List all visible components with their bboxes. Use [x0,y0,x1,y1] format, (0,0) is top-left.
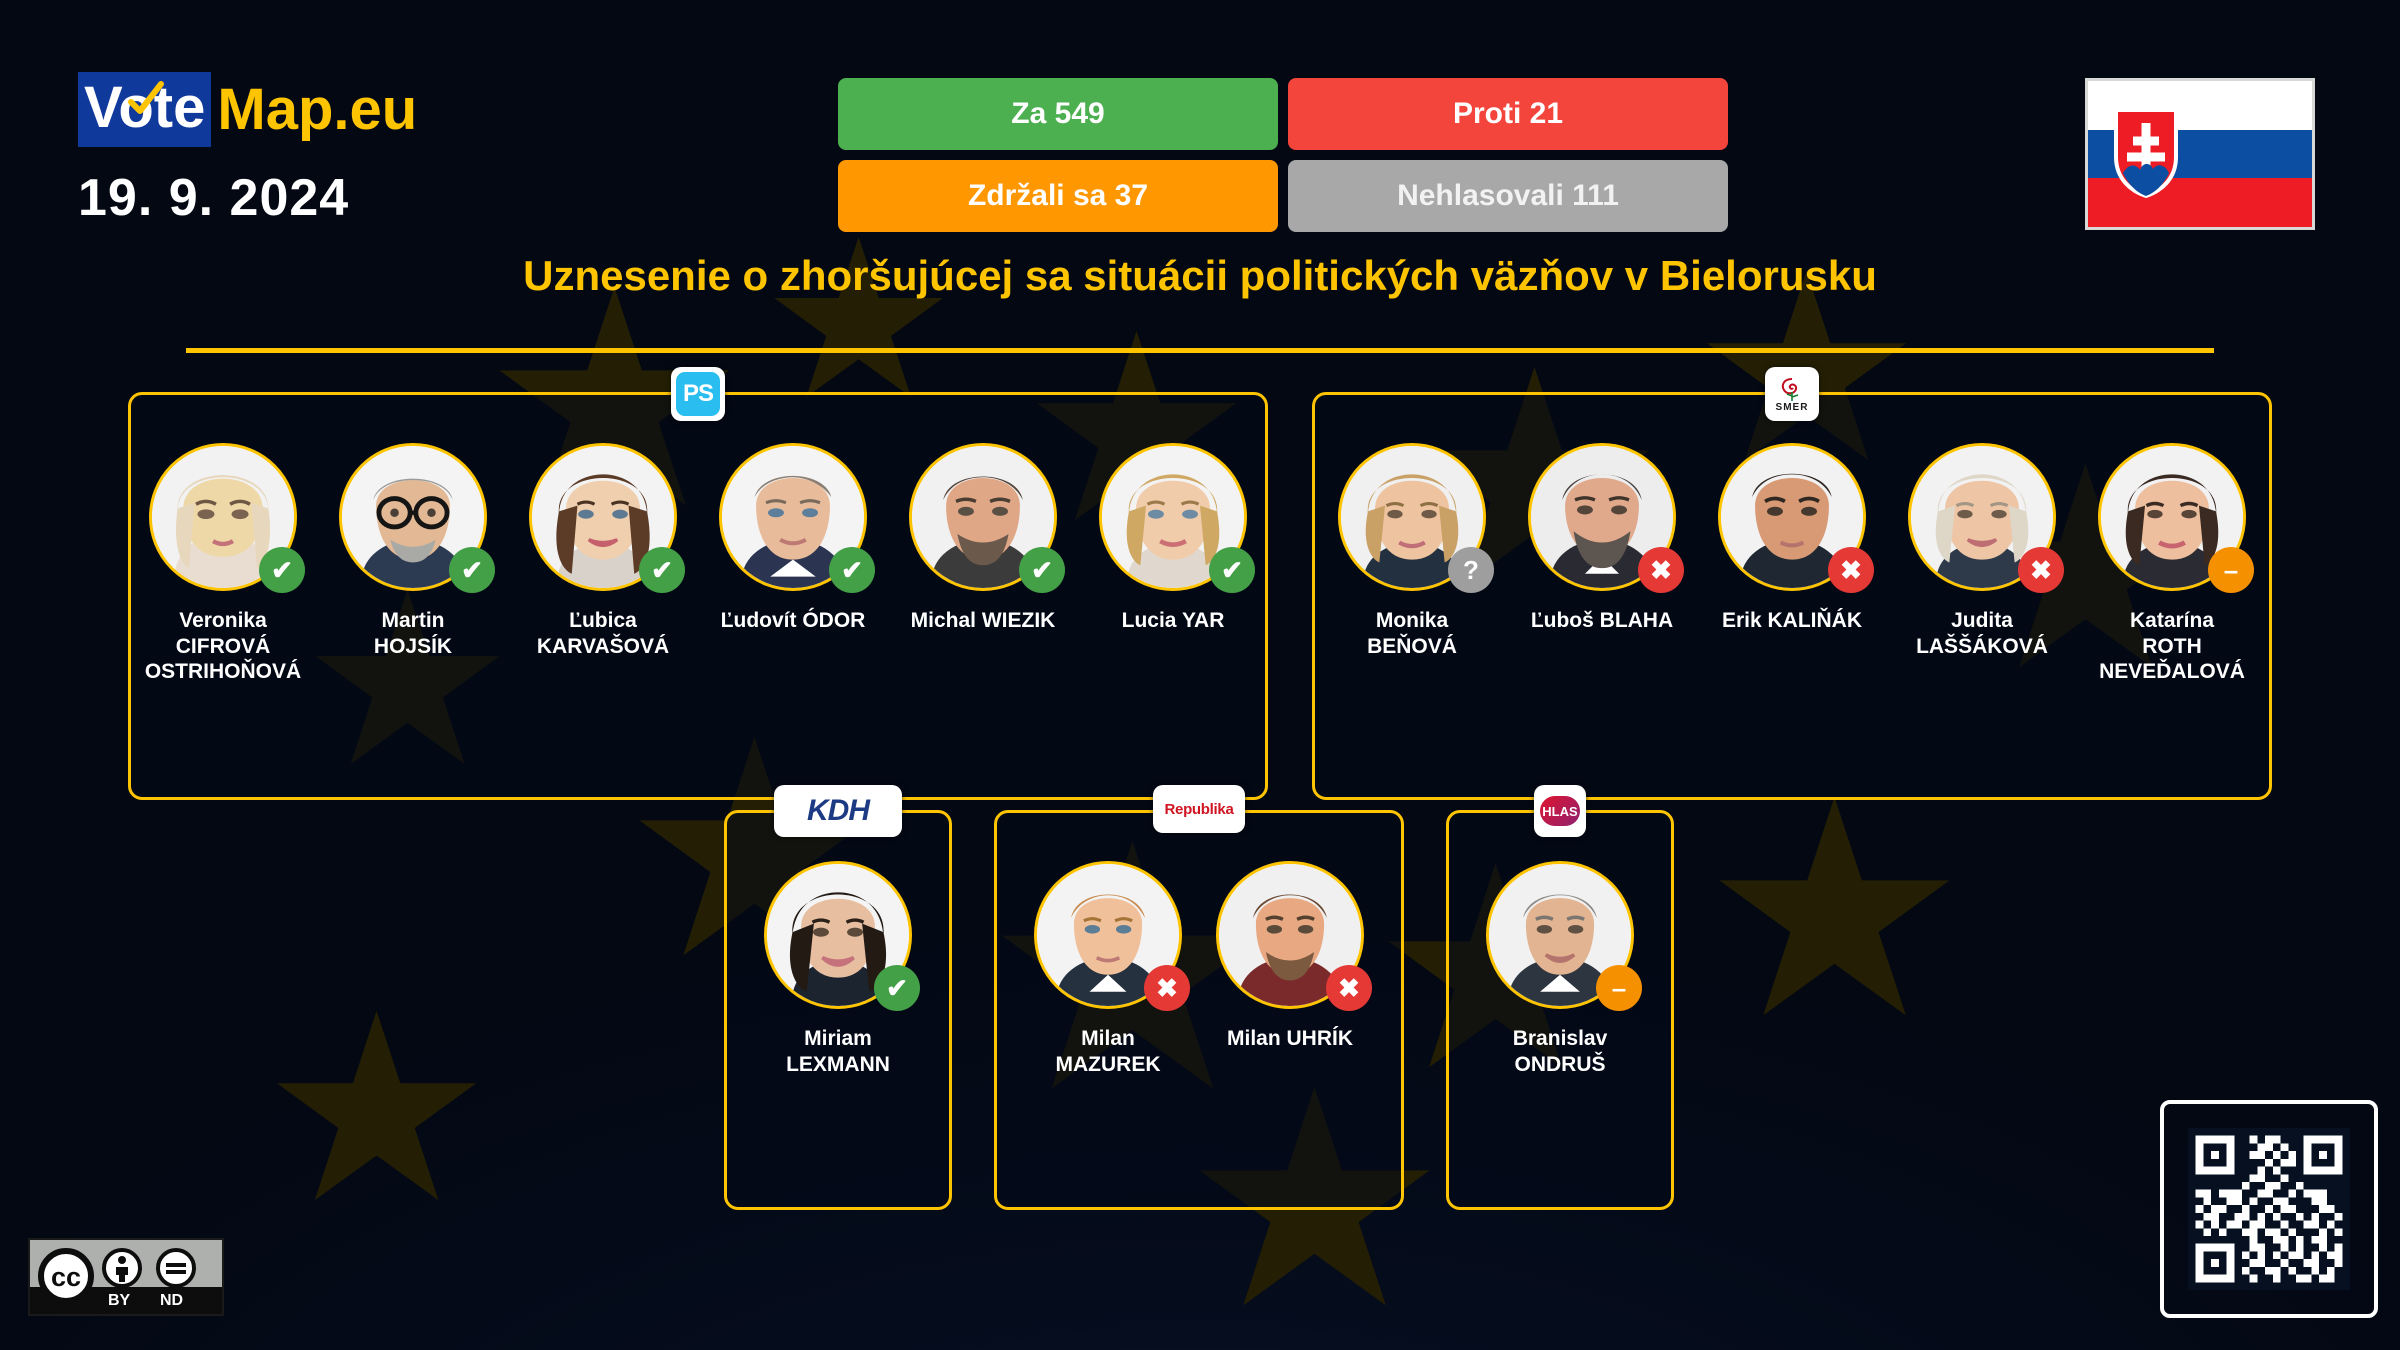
vote-badge-absent: ? [1448,547,1494,593]
mep-card[interactable]: ? Monika BEŇOVÁ [1332,443,1492,659]
cc-icon: cc [38,1248,94,1304]
nd-equals-icon [156,1248,196,1288]
party-panel-hlas: HLAS [1446,810,1674,1210]
mep-row: ✔ Veronika CIFROVÁ OSTRIHOŇOVÁ [131,443,1265,685]
vote-badge-against: ✖ [1828,547,1874,593]
avatar: ✔ [529,443,677,591]
avatar: ✔ [764,861,912,1009]
vote-badge-for: ✔ [259,547,305,593]
brand-logo-map: Map.eu [211,76,417,143]
mep-name: Milan MAZUREK [1028,1026,1188,1077]
avatar: ✔ [339,443,487,591]
vote-badge-abstain: – [2208,547,2254,593]
slovakia-flag [2085,78,2315,230]
smer-logo-text: SMER [1776,403,1809,413]
vote-badge-for: ✔ [449,547,495,593]
mep-name: Ľudovít ÓDOR [713,608,873,634]
hlas-logo: HLAS [1534,785,1586,837]
mep-name: Veronika CIFROVÁ OSTRIHOŇOVÁ [143,608,303,685]
vote-badge-against: ✖ [1326,965,1372,1011]
avatar: ✖ [1908,443,2056,591]
mep-card[interactable]: ✖ Judita LAŠŠÁKOVÁ [1902,443,2062,659]
mep-card[interactable]: ✖ Ľuboš BLAHA [1522,443,1682,634]
tally-nehlasovali[interactable]: Nehlasovali 111 [1288,160,1728,232]
party-panel-kdh: KDH [724,810,952,1210]
avatar: ✔ [149,443,297,591]
qr-code-image [2188,1128,2350,1290]
smer-rose-icon [1776,376,1808,402]
tally-za[interactable]: Za 549 [838,78,1278,150]
mep-name: Katarína ROTH NEVEĎALOVÁ [2092,608,2252,685]
mep-row: ✔ Miriam LEXMANN [727,861,949,1077]
slovakia-coat-of-arms-icon [2113,107,2179,199]
avatar: ✖ [1034,861,1182,1009]
vote-badge-for: ✔ [1209,547,1255,593]
cc-by-label: BY [108,1292,130,1310]
mep-name: Ľubica KARVAŠOVÁ [523,608,683,659]
vote-date: 19. 9. 2024 [78,168,349,228]
vote-badge-for: ✔ [639,547,685,593]
mep-card[interactable]: ✖ Milan UHRÍK [1210,861,1370,1052]
vote-badge-for: ✔ [874,965,920,1011]
title-divider [186,348,2214,353]
mep-name: Lucia YAR [1093,608,1253,634]
avatar: – [2098,443,2246,591]
mep-name: Michal WIEZIK [903,608,1063,634]
republika-logo-text: Republika [1165,801,1234,818]
mep-name: Milan UHRÍK [1210,1026,1370,1052]
vote-badge-against: ✖ [1144,965,1190,1011]
ps-logo: PS [671,367,725,421]
mep-card[interactable]: – Branislav ONDRUŠ [1475,861,1645,1077]
mep-name: Monika BEŇOVÁ [1332,608,1492,659]
mep-name: Branislav ONDRUŠ [1475,1026,1645,1077]
mep-name: Miriam LEXMANN [753,1026,923,1077]
mep-row: ? Monika BEŇOVÁ [1315,443,2269,685]
vote-badge-for: ✔ [829,547,875,593]
mep-card[interactable]: ✔ Martin HOJSÍK [333,443,493,659]
avatar: ✖ [1718,443,1866,591]
republika-logo: Republika [1153,785,1245,833]
mep-card[interactable]: ✔ Lucia YAR [1093,443,1253,634]
avatar: ✔ [909,443,1057,591]
hlas-logo-text: HLAS [1540,796,1580,826]
vote-badge-abstain: – [1596,965,1642,1011]
brand-logo[interactable]: Vote Map.eu [78,72,417,147]
decorative-star: ★ [260,980,493,1240]
avatar: ✖ [1216,861,1364,1009]
avatar: ? [1338,443,1486,591]
avatar: ✔ [719,443,867,591]
avatar: – [1486,861,1634,1009]
tally-zdrzali-sa[interactable]: Zdržali sa 37 [838,160,1278,232]
mep-name: Martin HOJSÍK [333,608,493,659]
mep-card[interactable]: ✔ Ľudovít ÓDOR [713,443,873,634]
mep-card[interactable]: ✔ Michal WIEZIK [903,443,1063,634]
mep-card[interactable]: ✔ Veronika CIFROVÁ OSTRIHOŇOVÁ [143,443,303,685]
mep-row: ✖ Milan MAZUREK [997,861,1401,1077]
header: Vote Map.eu 19. 9. 2024 Za 549 Proti 21 … [0,0,2400,260]
tally-proti[interactable]: Proti 21 [1288,78,1728,150]
page-title: Uznesenie o zhoršujúcej sa situácii poli… [0,252,2400,300]
kdh-logo: KDH [774,785,902,837]
party-panel-ps: PS [128,392,1268,800]
mep-card[interactable]: ✔ Miriam LEXMANN [753,861,923,1077]
mep-card[interactable]: ✖ Milan MAZUREK [1028,861,1188,1077]
svg-text:cc: cc [51,1262,81,1292]
mep-card[interactable]: ✖ Erik KALIŇÁK [1712,443,1872,634]
vote-tally-group: Za 549 Proti 21 Zdržali sa 37 Nehlasoval… [838,78,1728,232]
vote-badge-for: ✔ [1019,547,1065,593]
by-person-icon [102,1248,142,1288]
cc-nd-label: ND [160,1292,183,1310]
mep-name: Erik KALIŇÁK [1712,608,1872,634]
check-icon [125,80,165,120]
avatar: ✔ [1099,443,1247,591]
mep-name: Ľuboš BLAHA [1522,608,1682,634]
ps-logo-text: PS [676,372,720,416]
qr-code[interactable] [2160,1100,2378,1318]
party-panel-republika: Republika [994,810,1404,1210]
mep-name: Judita LAŠŠÁKOVÁ [1902,608,2062,659]
vote-badge-against: ✖ [1638,547,1684,593]
mep-row: – Branislav ONDRUŠ [1449,861,1671,1077]
creative-commons-badge[interactable]: cc BY ND [28,1238,224,1316]
smer-logo: SMER [1765,367,1819,421]
mep-card[interactable]: – Katarína ROTH NEVEĎALOVÁ [2092,443,2252,685]
kdh-logo-text: KDH [807,794,869,828]
vote-badge-against: ✖ [2018,547,2064,593]
party-panel-smer: SMER [1312,392,2272,800]
mep-card[interactable]: ✔ Ľubica KARVAŠOVÁ [523,443,683,659]
decorative-star: ★ [1700,760,1969,1060]
avatar: ✖ [1528,443,1676,591]
votemap-card: ★ ★ ★ ★ ★ ★ ★ ★ ★ ★ ★ ★ ★ Vote Map.eu 19… [0,0,2400,1350]
